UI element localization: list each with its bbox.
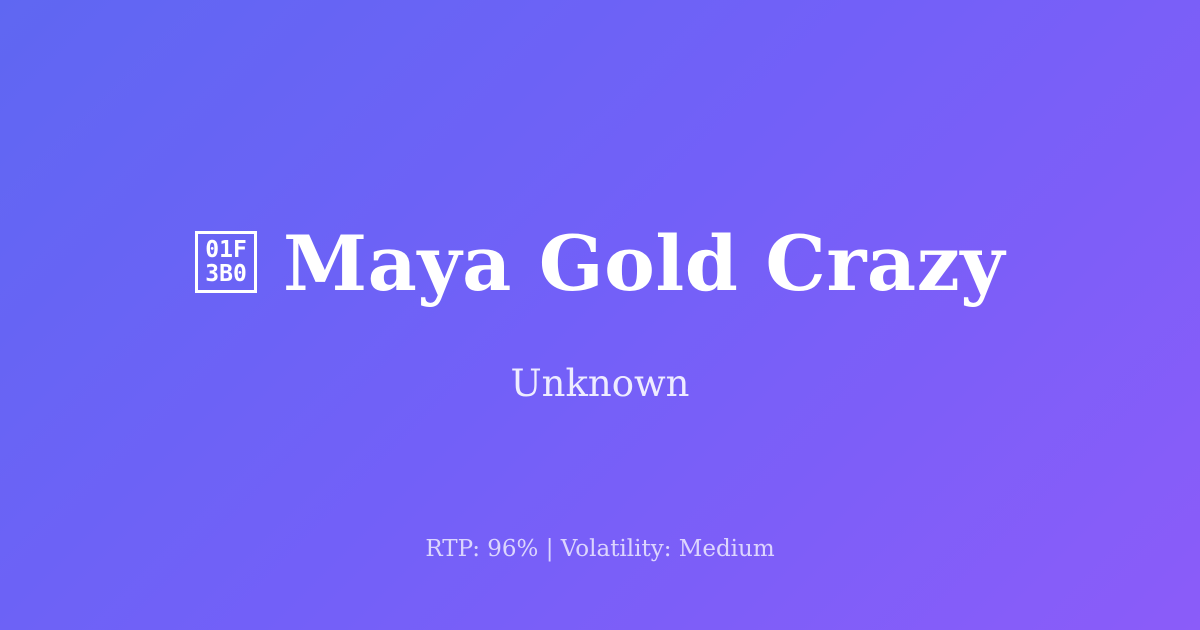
title-row: 01F 3B0 Maya Gold Crazy	[155, 224, 1045, 304]
game-provider-subtitle: Unknown	[510, 362, 689, 406]
page-title: Maya Gold Crazy	[283, 224, 1005, 304]
slot-machine-emoji-icon: 01F 3B0	[195, 231, 257, 293]
tofu-codepoint-top: 01F	[205, 238, 247, 262]
tofu-codepoint-bottom: 3B0	[205, 262, 247, 286]
game-meta-line: RTP: 96% | Volatility: Medium	[0, 536, 1200, 564]
game-preview-card: 01F 3B0 Maya Gold Crazy Unknown RTP: 96%…	[0, 0, 1200, 630]
